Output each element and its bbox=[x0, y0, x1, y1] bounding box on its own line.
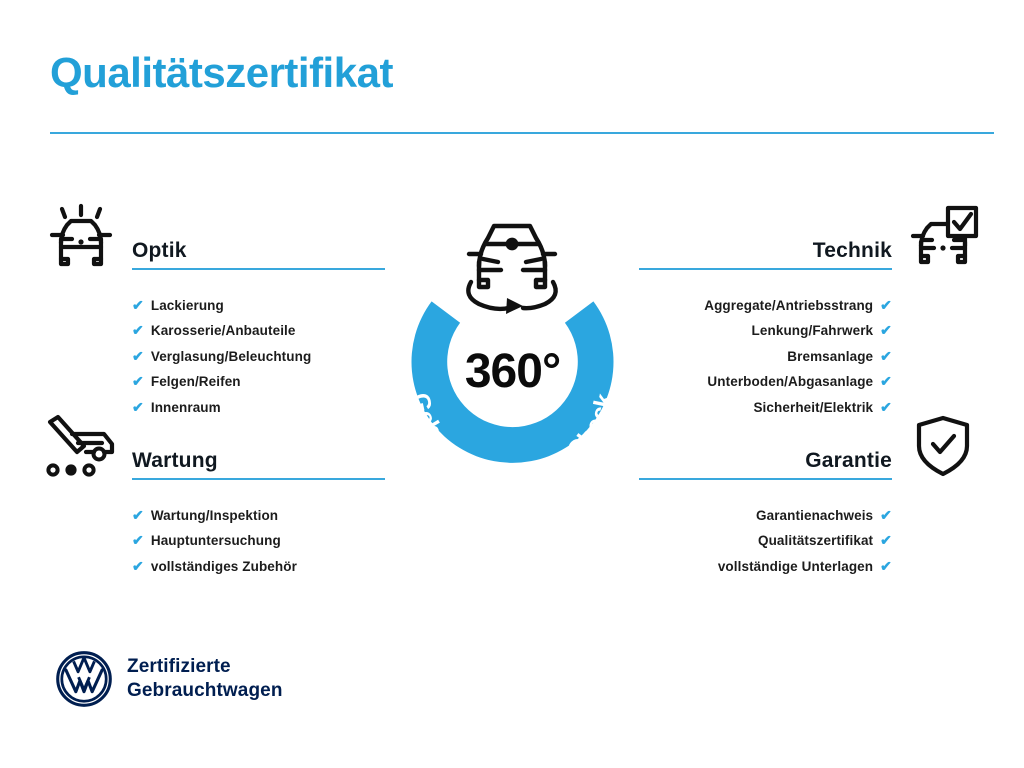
gebrauchtwagen-check-badge: Gebrauchtwagen-Check bbox=[380, 196, 645, 496]
section-underline-technik bbox=[639, 268, 892, 270]
list-item-label: Unterboden/Abgasanlage bbox=[707, 375, 873, 389]
check-icon: ✔ bbox=[880, 559, 892, 573]
list-item: ✔ Wartung/Inspektion bbox=[132, 502, 385, 528]
check-icon: ✔ bbox=[880, 508, 892, 522]
section-technik: Technik Aggregate/Antriebsstrang ✔ Lenku… bbox=[639, 200, 984, 420]
vw-certified-logo: Zertifizierte Gebrauchtwagen bbox=[55, 650, 283, 708]
list-item-label: Lenkung/Fahrwerk bbox=[752, 324, 874, 338]
page-title: Qualitätszertifikat bbox=[50, 50, 393, 96]
list-item-label: Verglasung/Beleuchtung bbox=[151, 350, 311, 364]
list-item-label: Karosserie/Anbauteile bbox=[151, 324, 296, 338]
check-icon: ✔ bbox=[880, 298, 892, 312]
section-wartung: Wartung ✔ Wartung/Inspektion ✔ Hauptunte… bbox=[40, 410, 385, 579]
title-divider bbox=[50, 132, 994, 134]
checklist-wartung: ✔ Wartung/Inspektion ✔ Hauptuntersuchung… bbox=[40, 502, 385, 579]
check-icon: ✔ bbox=[880, 323, 892, 337]
list-item: Bremsanlage ✔ bbox=[639, 343, 892, 369]
list-item: Qualitätszertifikat ✔ bbox=[639, 528, 892, 554]
car-checkbox-icon bbox=[902, 200, 984, 272]
check-icon: ✔ bbox=[132, 349, 144, 363]
check-icon: ✔ bbox=[880, 374, 892, 388]
list-item-label: Aggregate/Antriebsstrang bbox=[704, 299, 873, 313]
list-item-label: Garantienachweis bbox=[756, 509, 873, 523]
car-polish-icon bbox=[40, 200, 122, 272]
list-item: ✔ Hauptuntersuchung bbox=[132, 528, 385, 554]
section-title-optik: Optik bbox=[132, 239, 385, 268]
list-item: ✔ Felgen/Reifen bbox=[132, 369, 385, 395]
check-icon: ✔ bbox=[132, 533, 144, 547]
vw-logo-line1: Zertifizierte bbox=[127, 655, 283, 679]
list-item-label: Felgen/Reifen bbox=[151, 375, 241, 389]
checklist-garantie: Garantienachweis ✔ Qualitätszertifikat ✔… bbox=[639, 502, 984, 579]
section-title-garantie: Garantie bbox=[639, 449, 892, 478]
list-item-label: Hauptuntersuchung bbox=[151, 534, 281, 548]
list-item-label: Lackierung bbox=[151, 299, 224, 313]
section-title-technik: Technik bbox=[639, 239, 892, 268]
check-icon: ✔ bbox=[132, 559, 144, 573]
list-item: Lenkung/Fahrwerk ✔ bbox=[639, 318, 892, 344]
list-item: ✔ Karosserie/Anbauteile bbox=[132, 318, 385, 344]
check-icon: ✔ bbox=[880, 533, 892, 547]
checklist-optik: ✔ Lackierung ✔ Karosserie/Anbauteile ✔ V… bbox=[40, 292, 385, 420]
check-icon: ✔ bbox=[132, 323, 144, 337]
section-underline-optik bbox=[132, 268, 385, 270]
list-item-label: Qualitätszertifikat bbox=[758, 534, 873, 548]
vw-logo-line2: Gebrauchtwagen bbox=[127, 679, 283, 703]
list-item: ✔ vollständiges Zubehör bbox=[132, 553, 385, 579]
badge-center-label: 360° bbox=[380, 344, 645, 399]
section-underline-wartung bbox=[132, 478, 385, 480]
check-icon: ✔ bbox=[880, 349, 892, 363]
shield-check-icon bbox=[902, 410, 984, 482]
section-garantie: Garantie Garantienachweis ✔ Qualitätszer… bbox=[639, 410, 984, 579]
check-icon: ✔ bbox=[132, 508, 144, 522]
vw-logo-text: Zertifizierte Gebrauchtwagen bbox=[127, 655, 283, 704]
check-icon: ✔ bbox=[132, 298, 144, 312]
car-rotation-icon bbox=[468, 226, 555, 314]
section-header-optik: Optik bbox=[40, 200, 385, 278]
list-item-label: Bremsanlage bbox=[787, 350, 873, 364]
vw-logo-icon bbox=[55, 650, 113, 708]
certificate-page: Qualitätszertifikat bbox=[0, 0, 1024, 768]
section-underline-garantie bbox=[639, 478, 892, 480]
list-item: Unterboden/Abgasanlage ✔ bbox=[639, 369, 892, 395]
list-item: Aggregate/Antriebsstrang ✔ bbox=[639, 292, 892, 318]
list-item-label: vollständiges Zubehör bbox=[151, 560, 297, 574]
section-header-wartung: Wartung bbox=[40, 410, 385, 488]
list-item: Garantienachweis ✔ bbox=[639, 502, 892, 528]
section-header-technik: Technik bbox=[639, 200, 984, 278]
car-service-tool-icon bbox=[40, 410, 122, 482]
checklist-technik: Aggregate/Antriebsstrang ✔ Lenkung/Fahrw… bbox=[639, 292, 984, 420]
section-header-garantie: Garantie bbox=[639, 410, 984, 488]
list-item: ✔ Lackierung bbox=[132, 292, 385, 318]
section-title-wartung: Wartung bbox=[132, 449, 385, 478]
check-icon: ✔ bbox=[132, 374, 144, 388]
section-optik: Optik ✔ Lackierung ✔ Karosserie/Anbautei… bbox=[40, 200, 385, 420]
list-item: ✔ Verglasung/Beleuchtung bbox=[132, 343, 385, 369]
list-item: vollständige Unterlagen ✔ bbox=[639, 553, 892, 579]
list-item-label: vollständige Unterlagen bbox=[718, 560, 873, 574]
list-item-label: Wartung/Inspektion bbox=[151, 509, 278, 523]
